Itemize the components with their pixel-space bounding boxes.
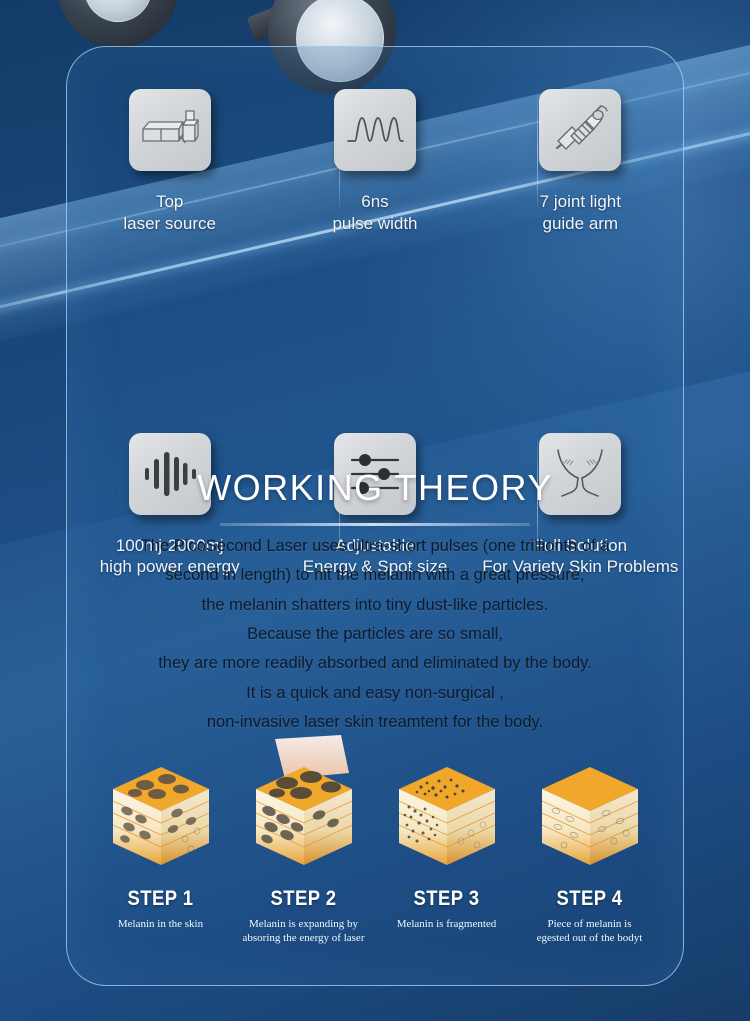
theory-line: they are more readily absorbed and elimi… [67,649,683,678]
handpiece-icon [539,89,621,171]
feature-label-line2: guide arm [540,213,621,235]
step-item: STEP 2 Melanin is expanding by absoring … [232,753,375,946]
skin-block-melanin-intact-icon [105,753,217,873]
feature-row-top: Top laser source 6ns pulse width [67,89,683,235]
step-item: STEP 3 Melanin is fragmented [375,753,518,946]
feature-label-line1: Top [123,191,216,213]
caster-wheel-icon [58,0,178,48]
feature-pulse-width: 6ns pulse width [272,89,477,235]
skin-block-melanin-expanding-icon [245,753,363,873]
step-caption-line1: Melanin is expanding by [243,918,365,932]
step-title: STEP 4 [556,887,622,911]
content-frame: Top laser source 6ns pulse width [66,46,684,986]
skin-block-melanin-fragmented-icon [391,753,503,873]
feature-label: Top laser source [123,191,216,235]
step-title: STEP 3 [413,887,479,911]
theory-line: non-invasive laser skin treamtent for th… [67,708,683,737]
step-title: STEP 2 [270,887,336,911]
steps-row: STEP 1 Melanin in the skin [89,753,661,946]
theory-line: Because the particles are so small, [67,620,683,649]
theory-line: It is a quick and easy non-surgical , [67,679,683,708]
step-caption: Piece of melanin is egested out of the b… [537,918,643,946]
feature-label: 6ns pulse width [332,191,417,235]
feature-guide-arm: 7 joint light guide arm [478,89,683,235]
step-item: STEP 4 Piece of melanin is egested out o… [518,753,661,946]
feature-label-line2: pulse width [332,213,417,235]
laser-source-icon [129,89,211,171]
step-caption-line2: absoring the energy of laser [243,932,365,946]
section-heading: WORKING THEORY [67,467,683,526]
step-item: STEP 1 Melanin in the skin [89,753,232,946]
title-underline [220,523,530,526]
step-title: STEP 1 [127,887,193,911]
feature-label-line1: 7 joint light [540,191,621,213]
step-caption: Melanin is expanding by absoring the ene… [243,918,365,946]
feature-label-line2: laser source [123,213,216,235]
skin-block-clear-icon [534,753,646,873]
step-caption-line2: egested out of the bodyt [537,932,643,946]
feature-label-line1: 6ns [332,191,417,213]
page-title: WORKING THEORY [67,467,683,509]
theory-line: The PicoSecond Laser uses ultra-short pu… [67,532,683,561]
step-caption-line1: Melanin in the skin [118,918,203,932]
pulse-waveform-icon [334,89,416,171]
step-caption-line1: Melanin is fragmented [397,918,497,932]
theory-line: the melanin shatters into tiny dust-like… [67,591,683,620]
step-caption: Melanin in the skin [118,918,203,932]
theory-line: second in length) to hit the melanin wit… [67,561,683,590]
step-caption: Melanin is fragmented [397,918,497,932]
feature-laser-source: Top laser source [67,89,272,235]
step-caption-line1: Piece of melanin is [537,918,643,932]
theory-paragraph: The PicoSecond Laser uses ultra-short pu… [67,532,683,738]
feature-label: 7 joint light guide arm [540,191,621,235]
